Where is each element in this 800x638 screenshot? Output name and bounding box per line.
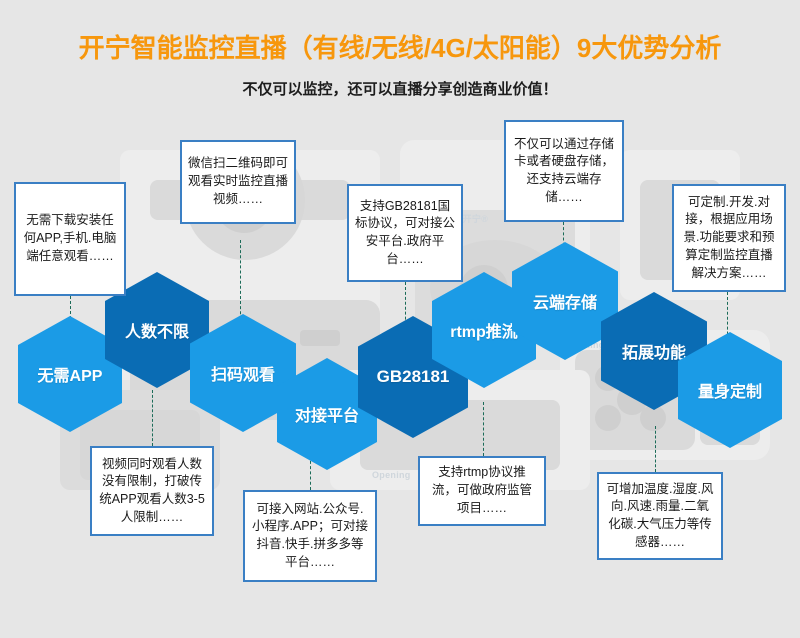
note-gb28181-text: 支持GB28181国标协议，可对接公安平台.政府平台……: [355, 198, 455, 269]
note-cloud-storage-text: 不仅可以通过存储卡或者硬盘存储，还支持云端存储……: [512, 136, 616, 207]
hex-no-app-label: 无需APP: [38, 362, 103, 386]
note-unlimited-text: 视频同时观看人数没有限制，打破传统APP观看人数3-5人限制……: [98, 456, 206, 527]
infographic-canvas: Opening开宁® Opening Opening 开宁智能监控直播（有线/无…: [0, 0, 800, 638]
note-no-app-text: 无需下载安装任何APP,手机.电脑端任意观看……: [22, 212, 118, 265]
note-extend-func-text: 可增加温度.湿度.风向.风速.雨量.二氧化碳.大气压力等传感器……: [605, 481, 715, 552]
note-cloud-storage: 不仅可以通过存储卡或者硬盘存储，还支持云端存储……: [504, 120, 624, 222]
hex-tailor-made-label: 量身定制: [698, 378, 762, 402]
note-scan-watch: 微信扫二维码即可观看实时监控直播视频……: [180, 140, 296, 224]
hex-rtmp-push-label: rtmp推流: [450, 318, 518, 342]
hex-scan-watch-label: 扫码观看: [211, 361, 275, 385]
note-unlimited: 视频同时观看人数没有限制，打破传统APP观看人数3-5人限制……: [90, 446, 214, 536]
note-tailor-made: 可定制.开发.对接，根据应用场景.功能要求和预算定制监控直播解决方案……: [672, 184, 786, 292]
note-scan-watch-text: 微信扫二维码即可观看实时监控直播视频……: [188, 155, 288, 208]
hex-extend-func-label: 拓展功能: [622, 339, 686, 363]
note-gb28181: 支持GB28181国标协议，可对接公安平台.政府平台……: [347, 184, 463, 282]
connector-extend-func: [655, 426, 656, 472]
page-title: 开宁智能监控直播（有线/无线/4G/太阳能）9大优势分析: [0, 28, 800, 65]
connector-unlimited: [152, 390, 153, 446]
connector-rtmp-push: [483, 402, 484, 456]
note-platform-dock-text: 可接入网站.公众号.小程序.APP；可对接抖音.快手.拼多多等平台……: [251, 501, 369, 572]
note-platform-dock: 可接入网站.公众号.小程序.APP；可对接抖音.快手.拼多多等平台……: [243, 490, 377, 582]
note-rtmp-push: 支持rtmp协议推流，可做政府监管项目……: [418, 456, 546, 526]
note-extend-func: 可增加温度.湿度.风向.风速.雨量.二氧化碳.大气压力等传感器……: [597, 472, 723, 560]
page-subtitle: 不仅可以监控，还可以直播分享创造商业价值！: [0, 78, 800, 99]
note-tailor-made-text: 可定制.开发.对接，根据应用场景.功能要求和预算定制监控直播解决方案……: [680, 194, 778, 283]
hex-unlimited-label: 人数不限: [125, 318, 189, 342]
hex-cloud-storage-label: 云端存储: [533, 289, 597, 313]
hex-gb28181-label: GB28181: [377, 367, 450, 387]
note-no-app: 无需下载安装任何APP,手机.电脑端任意观看……: [14, 182, 126, 296]
hex-platform-dock-label: 对接平台: [295, 402, 359, 426]
note-rtmp-push-text: 支持rtmp协议推流，可做政府监管项目……: [426, 464, 538, 517]
